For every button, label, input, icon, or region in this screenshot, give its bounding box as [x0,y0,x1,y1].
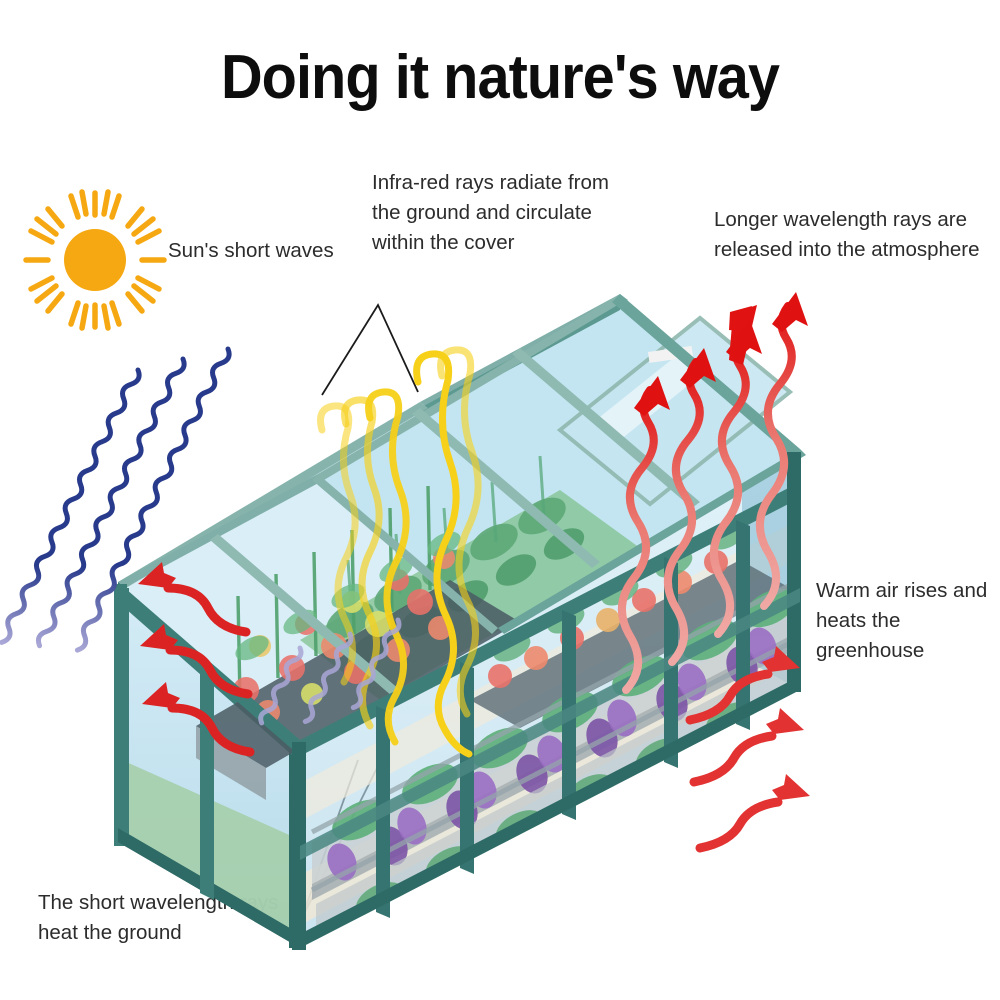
sun-icon [26,192,164,328]
warm-air-arrowheads-right [762,646,810,800]
leader-infrared [322,305,418,395]
greenhouse-diagram [0,0,1000,1000]
